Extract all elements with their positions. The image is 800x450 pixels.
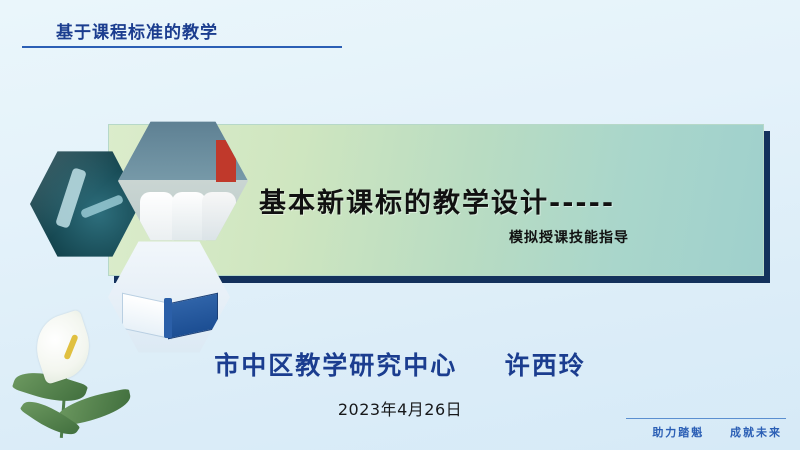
presentation-slide: 基于课程标准的教学 基本新课标的教学设计----- 模拟授课技能指导 市中区教学… (0, 0, 800, 450)
presenter-line: 市中区教学研究中心 许西玲 (0, 346, 800, 382)
slide-slogan: 助力踏魁 成就未来 (652, 424, 782, 440)
slide-subtitle: 模拟授课技能指导 (509, 227, 629, 247)
microscope-arm-shape (80, 194, 124, 219)
book-page-right (168, 293, 218, 340)
slogan-underline (626, 418, 786, 419)
presenter-organization: 市中区教学研究中心 (214, 351, 457, 380)
presenter-name: 许西玲 (505, 351, 586, 380)
microscope-body-shape (55, 167, 87, 228)
slogan-part-2: 成就未来 (730, 426, 782, 439)
slide-top-heading: 基于课程标准的教学 (56, 18, 218, 43)
slide-date: 2023年4月26日 (0, 396, 800, 420)
slogan-part-1: 助力踏魁 (652, 426, 704, 439)
book-spine (164, 298, 172, 338)
top-heading-underline (22, 46, 342, 48)
student-figure (172, 192, 206, 244)
slide-title: 基本新课标的教学设计----- (259, 181, 615, 220)
